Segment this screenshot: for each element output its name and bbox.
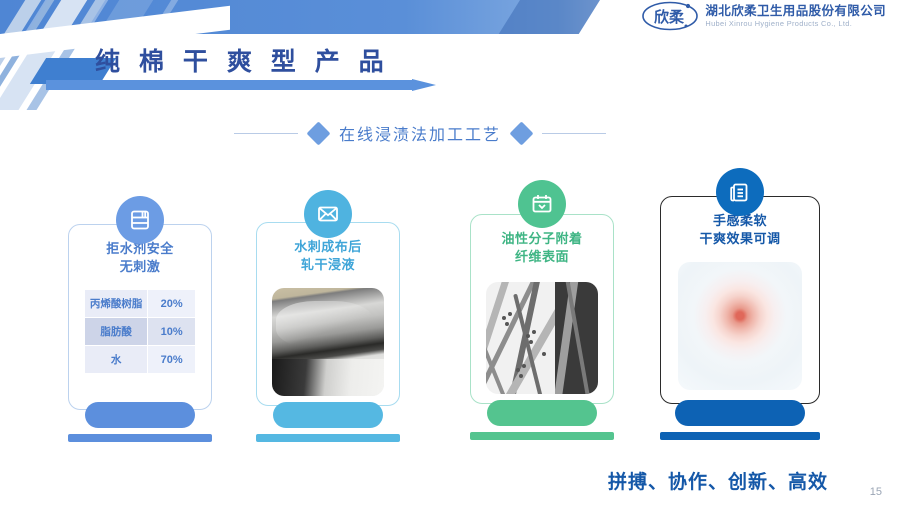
company-name-cn: 湖北欣柔卫生用品股份有限公司 <box>705 5 886 18</box>
slide: 欣柔 湖北欣柔卫生用品股份有限公司 Hubei Xinrou Hygiene P… <box>0 0 900 510</box>
table-row: 脂肪酸 10% <box>85 318 196 346</box>
component-name: 水 <box>85 346 148 374</box>
section-subtitle-group: 在线浸渍法加工工艺 <box>210 118 630 148</box>
fiber-microscope-photo <box>486 282 598 394</box>
title-arrow-icon <box>46 78 436 90</box>
photo-right-half <box>555 282 598 394</box>
process-card-4[interactable]: 手感柔软 干爽效果可调 <box>660 168 820 438</box>
card-title: 拒水剂安全 无刺激 <box>68 240 212 275</box>
page-title: 纯 棉 干 爽 型 产 品 <box>95 42 390 78</box>
book-icon <box>116 196 164 244</box>
process-card-2[interactable]: 水刺成布后 轧干浸液 <box>256 190 400 438</box>
component-name: 丙烯酸树脂 <box>85 290 148 318</box>
card-pill-button[interactable] <box>273 402 383 428</box>
card-title: 手感柔软 干爽效果可调 <box>660 212 820 247</box>
card-title: 油性分子附着 纤维表面 <box>470 230 614 265</box>
envelope-icon <box>304 190 352 238</box>
logo-text-block: 湖北欣柔卫生用品股份有限公司 Hubei Xinrou Hygiene Prod… <box>705 5 886 28</box>
component-value: 10% <box>148 318 196 346</box>
section-subtitle: 在线浸渍法加工工艺 <box>339 121 501 145</box>
company-name-en: Hubei Xinrou Hygiene Products Co., Ltd. <box>705 20 886 27</box>
table-row: 丙烯酸树脂 20% <box>85 290 196 318</box>
diamond-icon <box>306 121 330 145</box>
card-base-bar <box>470 432 614 440</box>
component-value: 70% <box>148 346 196 374</box>
absorbency-test-photo <box>678 262 802 390</box>
card-base-bar <box>256 434 400 442</box>
process-card-1[interactable]: 拒水剂安全 无刺激 丙烯酸树脂 20% 脂肪酸 10% 水 70% <box>68 196 212 438</box>
document-icon <box>716 168 764 216</box>
card-pill-button[interactable] <box>487 400 597 426</box>
card-pill-button[interactable] <box>675 400 805 426</box>
card-title: 水刺成布后 轧干浸液 <box>256 238 400 273</box>
process-card-3[interactable]: 油性分子附着 纤维表面 <box>470 180 614 438</box>
component-name: 脂肪酸 <box>85 318 148 346</box>
logo-mark-text: 欣柔 <box>654 8 685 26</box>
logo-mark-icon: 欣柔 <box>642 1 698 31</box>
company-logo: 欣柔 湖北欣柔卫生用品股份有限公司 Hubei Xinrou Hygiene P… <box>642 1 886 31</box>
calendar-icon <box>518 180 566 228</box>
component-value: 20% <box>148 290 196 318</box>
subtitle-rule-left <box>234 133 298 134</box>
table-row: 水 70% <box>85 346 196 374</box>
footer-slogan: 拼搏、协作、创新、高效 <box>608 467 828 494</box>
composition-table: 丙烯酸树脂 20% 脂肪酸 10% 水 70% <box>84 289 196 374</box>
subtitle-rule-right <box>542 133 606 134</box>
calender-roller-photo <box>272 288 384 396</box>
card-base-bar <box>660 432 820 440</box>
card-pill-button[interactable] <box>85 402 195 428</box>
diamond-icon <box>509 121 533 145</box>
card-base-bar <box>68 434 212 442</box>
photo-left-half <box>486 282 555 394</box>
page-number: 15 <box>870 486 882 498</box>
